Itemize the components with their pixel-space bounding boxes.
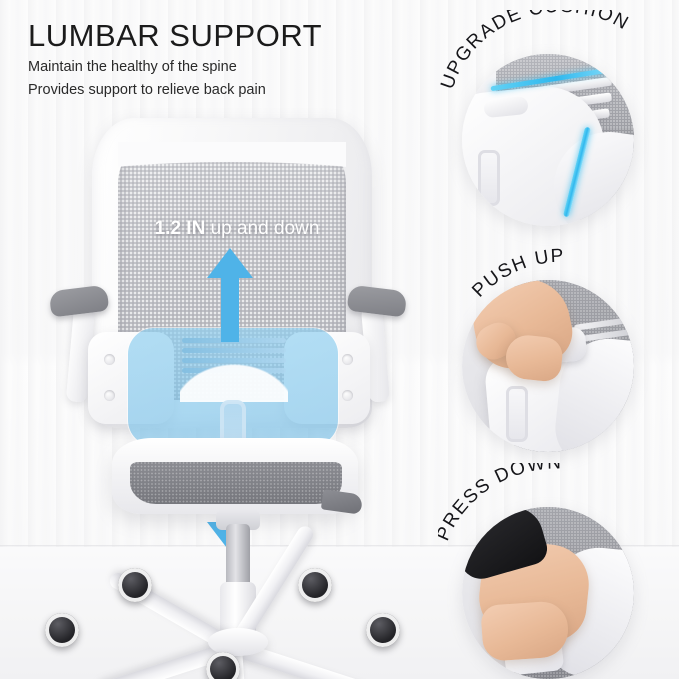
screw-dot (104, 390, 115, 401)
caster-wheel (366, 613, 400, 647)
page-title: LUMBAR SUPPORT (28, 18, 448, 54)
caster-wheel (45, 613, 79, 647)
callout-value: 1.2 IN (155, 218, 206, 239)
armrest-pad (347, 285, 408, 318)
panel-1-photo (462, 54, 634, 226)
panel-3-photo (462, 507, 634, 679)
feature-panel-press-down: PRESS DOWN (438, 453, 679, 679)
screw-dot (104, 354, 115, 365)
product-infographic: LUMBAR SUPPORT Maintain the healthy of t… (0, 0, 679, 679)
callout-text: up and down (205, 218, 319, 239)
screw-dot (342, 354, 353, 365)
screw-dot (342, 390, 353, 401)
seat-mesh (130, 462, 342, 504)
feature-panel-push-up: PUSH UP (438, 226, 679, 452)
armrest-pad (49, 285, 110, 318)
caster-wheel (298, 568, 332, 602)
subtitle-line-2: Provides support to relieve back pain (28, 80, 448, 101)
caster-wheel (118, 568, 152, 602)
arrow-up-icon (207, 248, 253, 342)
subtitle-line-1: Maintain the healthy of the spine (28, 57, 448, 78)
adjust-range-callout: 1.2 IN up and down (122, 218, 352, 240)
caster-wheel (206, 652, 240, 679)
fingers-icon (480, 600, 570, 662)
office-chair-illustration: 1.2 IN up and down (30, 100, 430, 675)
gas-cylinder (226, 524, 250, 590)
feature-panel-upgrade-cushion: UPGRADE CUSHION (438, 0, 679, 226)
header-block: LUMBAR SUPPORT Maintain the healthy of t… (28, 18, 448, 101)
panel-2-photo (462, 280, 634, 452)
feature-panels: UPGRADE CUSHION (438, 0, 679, 679)
